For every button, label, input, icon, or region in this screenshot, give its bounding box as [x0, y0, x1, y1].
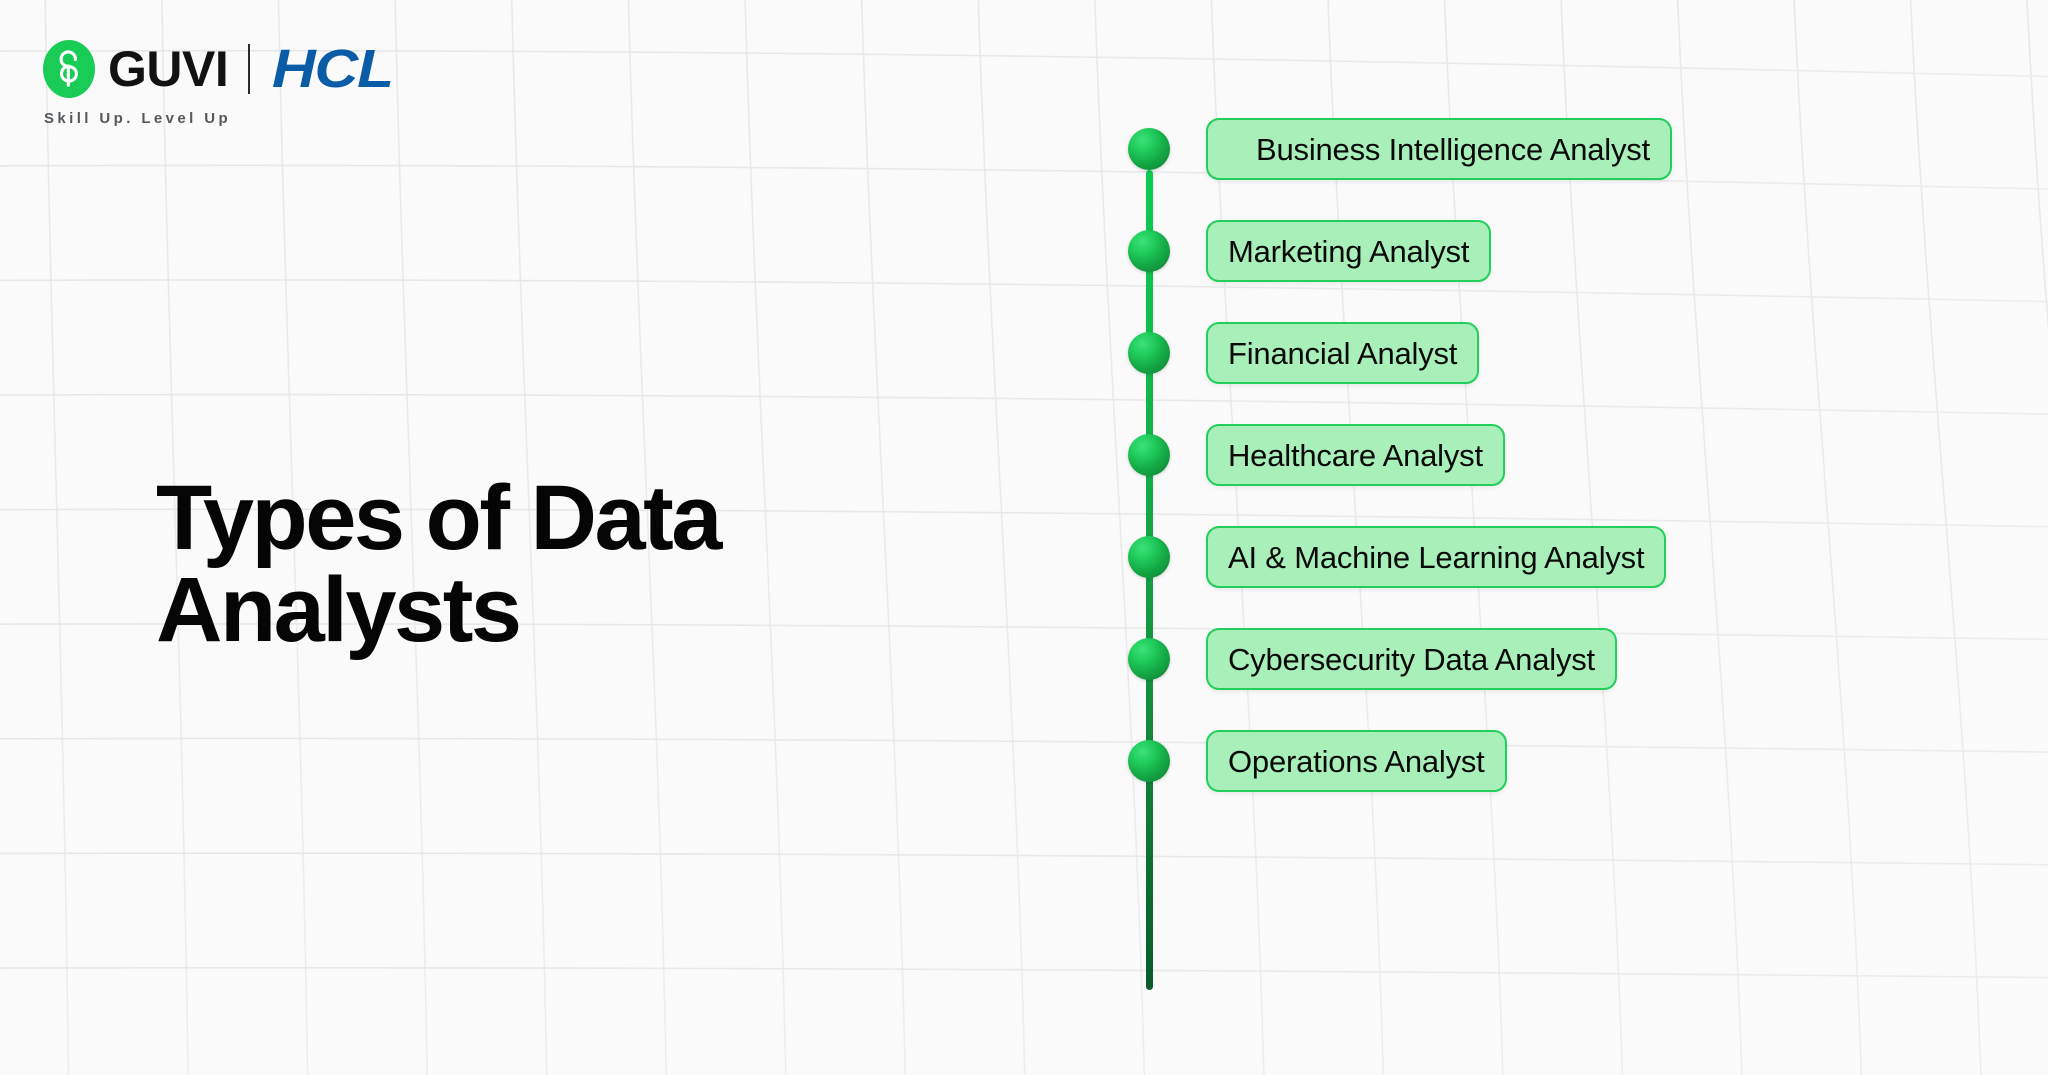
timeline-item-label: Business Intelligence Analyst	[1228, 134, 1650, 165]
timeline-item-label: Healthcare Analyst	[1228, 440, 1483, 471]
timeline-node-dot-icon	[1128, 740, 1170, 782]
timeline-item-pill[interactable]: Operations Analyst	[1206, 730, 1507, 792]
timeline-node-dot-icon	[1128, 230, 1170, 272]
timeline-node-dot-icon	[1128, 434, 1170, 476]
timeline-list: Business Intelligence AnalystMarketing A…	[1128, 118, 1828, 998]
timeline-item[interactable]: Healthcare Analyst	[1128, 424, 1505, 486]
timeline-node-dot-icon	[1128, 128, 1170, 170]
timeline-item-label: Cybersecurity Data Analyst	[1228, 644, 1595, 675]
hcl-wordmark: HCL	[272, 42, 393, 96]
timeline-node-dot-icon	[1128, 332, 1170, 374]
timeline-item-pill[interactable]: Cybersecurity Data Analyst	[1206, 628, 1617, 690]
brand-divider	[248, 44, 250, 94]
timeline-item-pill[interactable]: Business Intelligence Analyst	[1206, 118, 1672, 180]
timeline-item[interactable]: Operations Analyst	[1128, 730, 1507, 792]
timeline-item[interactable]: Cybersecurity Data Analyst	[1128, 628, 1617, 690]
timeline-item-label: Financial Analyst	[1228, 338, 1457, 369]
brand-tagline: Skill Up. Level Up	[44, 110, 380, 127]
timeline-item-pill[interactable]: Healthcare Analyst	[1206, 424, 1505, 486]
timeline-item-label: AI & Machine Learning Analyst	[1228, 542, 1644, 573]
timeline-node-dot-icon	[1128, 638, 1170, 680]
timeline-item-label: Marketing Analyst	[1228, 236, 1469, 267]
page-title: Types of Data Analysts	[156, 472, 720, 656]
timeline-item-label: Operations Analyst	[1228, 746, 1485, 777]
guvi-wordmark: GUVI	[108, 44, 228, 94]
brand-row: GUVI HCL	[42, 38, 380, 100]
timeline-item-pill[interactable]: Financial Analyst	[1206, 322, 1479, 384]
timeline-item[interactable]: Financial Analyst	[1128, 322, 1479, 384]
guvi-g-logo-icon	[42, 39, 96, 99]
timeline-item[interactable]: Marketing Analyst	[1128, 220, 1491, 282]
timeline-node-dot-icon	[1128, 536, 1170, 578]
brand-lockup: GUVI HCL Skill Up. Level Up	[42, 38, 380, 127]
timeline-item-pill[interactable]: Marketing Analyst	[1206, 220, 1491, 282]
timeline-item[interactable]: AI & Machine Learning Analyst	[1128, 526, 1666, 588]
timeline-item[interactable]: Business Intelligence Analyst	[1128, 118, 1672, 180]
timeline-item-pill[interactable]: AI & Machine Learning Analyst	[1206, 526, 1666, 588]
